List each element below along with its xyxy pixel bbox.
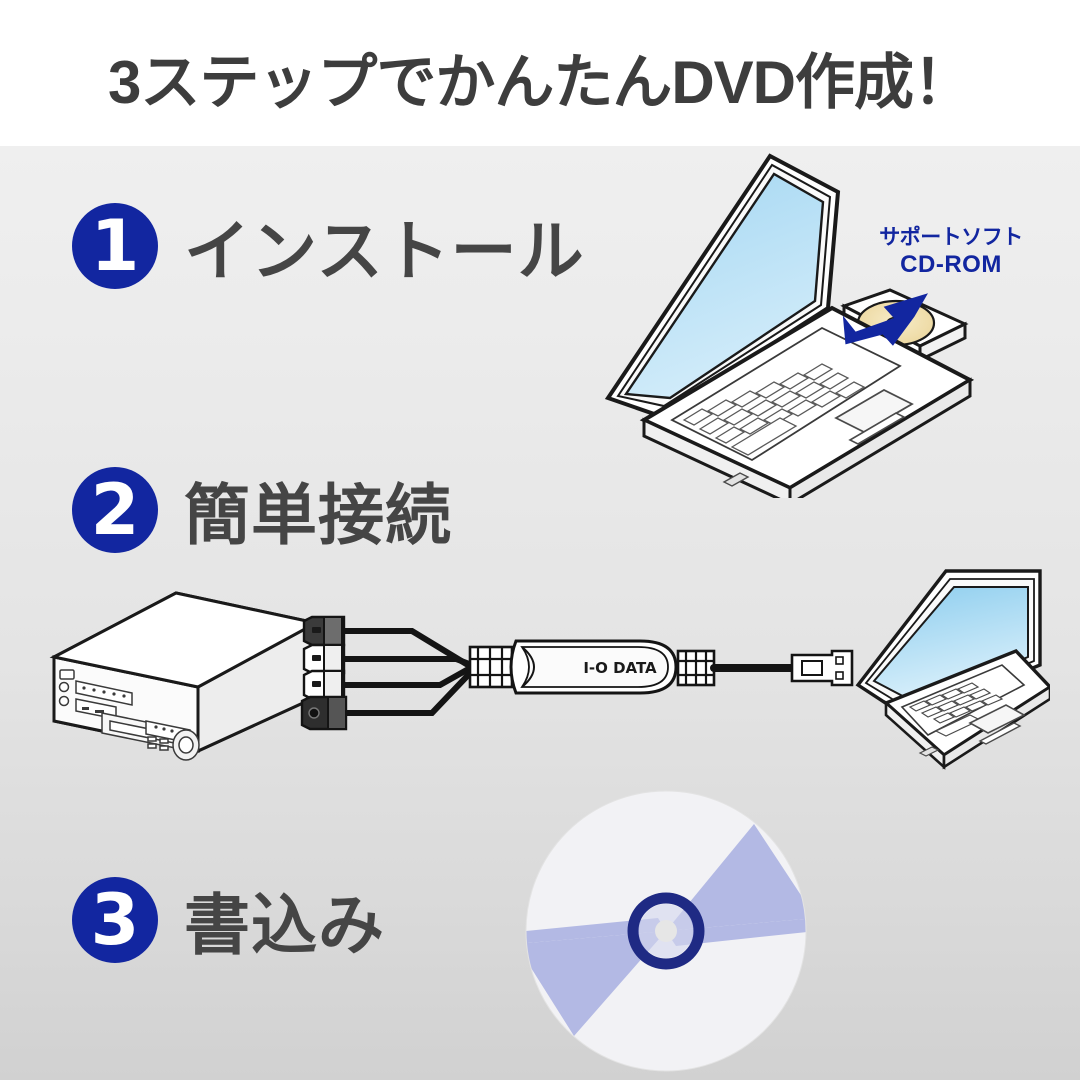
step-row-2: 2 簡単接続 <box>72 462 452 558</box>
step-label-3: 書込み <box>184 872 385 968</box>
step-label-2: 簡単接続 <box>184 462 452 558</box>
step-badge-2: 2 <box>72 467 158 553</box>
device-brand-label: I-O DATA <box>583 659 657 677</box>
usb-type-a-plug <box>792 651 852 685</box>
connector-1-dark <box>304 617 344 645</box>
step-badge-1: 1 <box>72 203 158 289</box>
connector-3-white <box>304 671 344 699</box>
connection-diagram-illustration: I-O DATA <box>40 555 1050 795</box>
av-cable-bundle <box>302 617 472 729</box>
step-row-3: 3 書込み <box>72 872 385 968</box>
step-row-1: 1 インストール <box>72 198 585 294</box>
strain-relief-right <box>678 651 714 685</box>
connector-2-white <box>304 645 344 673</box>
dvd-disc-illustration <box>516 786 816 1076</box>
laptop-usb-target <box>858 571 1050 767</box>
disc-center-hole <box>655 920 677 942</box>
usb-capture-device: I-O DATA <box>470 641 714 693</box>
connector-4-svideo <box>302 697 346 729</box>
laptop-with-cd-tray-illustration <box>600 148 980 498</box>
step-badge-3: 3 <box>72 877 158 963</box>
step-label-1: インストール <box>184 198 585 294</box>
video-recorder <box>54 593 316 760</box>
page-title: 3ステップでかんたんDVD作成！ <box>0 34 1080 121</box>
strain-relief-left <box>470 647 512 687</box>
poster-root: 3ステップでかんたんDVD作成！ 1 インストール サポートソフト CD-ROM <box>0 0 1080 1080</box>
